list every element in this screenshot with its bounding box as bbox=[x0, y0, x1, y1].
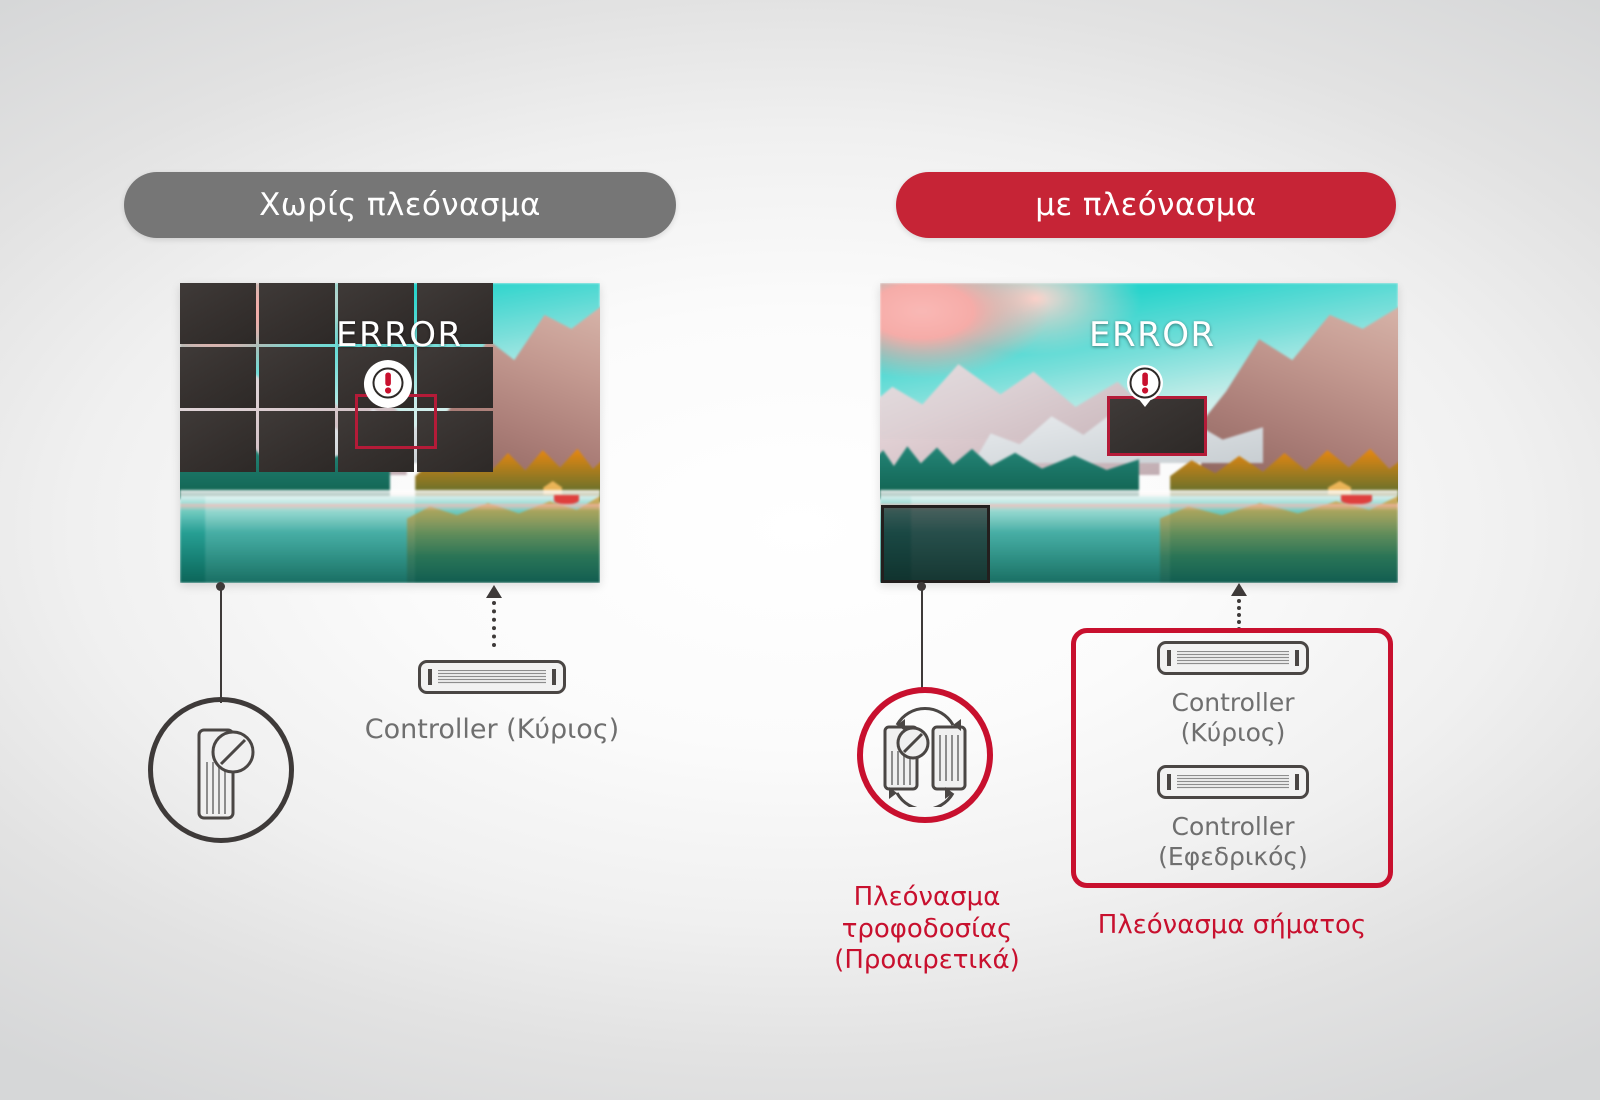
arrow-head bbox=[486, 585, 502, 598]
controller-vent bbox=[438, 670, 546, 685]
controller-cap-right bbox=[552, 669, 556, 686]
header-pill-without-redundancy: Χωρίς πλεόνασμα bbox=[124, 172, 676, 238]
controller-module-icon-primary bbox=[1157, 641, 1309, 675]
controller-cap-right bbox=[1295, 650, 1299, 667]
failed-tile-grid bbox=[180, 283, 493, 472]
controller-module-icon-backup bbox=[1157, 765, 1309, 799]
exclamation-pin-icon bbox=[1115, 358, 1175, 418]
controller-vent bbox=[1177, 775, 1289, 790]
psu-redundant-glyph bbox=[873, 703, 977, 807]
arrow-head bbox=[1231, 583, 1247, 596]
photo-boat bbox=[1341, 495, 1372, 505]
controller-caption-backup: Controller (Εφεδρικός) bbox=[1103, 812, 1363, 871]
header-pill-right-label: με πλεόνασμα bbox=[1035, 187, 1256, 223]
power-redundancy-caption: Πλεόνασμα τροφοδοσίας (Προαιρετικά) bbox=[788, 882, 1066, 977]
error-label-left: ERROR bbox=[336, 315, 463, 355]
controller-module-icon-left bbox=[418, 660, 566, 694]
photo-water-stripe bbox=[180, 504, 600, 510]
failed-tile bbox=[259, 347, 335, 408]
dimmed-tile bbox=[881, 505, 990, 583]
exclamation-pin-icon bbox=[358, 358, 418, 418]
power-supply-single-icon bbox=[148, 697, 294, 843]
psu-unit-glyph bbox=[175, 718, 267, 822]
failed-tile bbox=[180, 411, 256, 472]
controller-caption-left: Controller (Κύριος) bbox=[320, 714, 664, 746]
signal-redundancy-caption: Πλεόνασμα σήματος bbox=[1076, 910, 1388, 942]
power-supply-redundant-icon bbox=[857, 687, 993, 823]
failed-tile bbox=[259, 283, 335, 344]
diagram-canvas: Χωρίς πλεόνασμα με πλεόνασμα bbox=[0, 0, 1600, 1100]
failed-tile bbox=[180, 347, 256, 408]
controller-caption-primary: Controller (Κύριος) bbox=[1103, 688, 1363, 747]
controller-cap-left bbox=[1167, 774, 1171, 791]
arrow-dots bbox=[492, 601, 496, 647]
connector-line-psu-right bbox=[921, 585, 923, 690]
arrow-dots bbox=[1237, 599, 1241, 631]
failed-tile bbox=[259, 411, 335, 472]
header-pill-left-label: Χωρίς πλεόνασμα bbox=[259, 187, 541, 223]
photo-boat bbox=[554, 495, 579, 505]
controller-cap-right bbox=[1295, 774, 1299, 791]
connector-line-psu-left bbox=[220, 585, 222, 703]
controller-cap-left bbox=[1167, 650, 1171, 667]
failed-tile bbox=[180, 283, 256, 344]
controller-vent bbox=[1177, 651, 1289, 666]
header-pill-with-redundancy: με πλεόνασμα bbox=[896, 172, 1396, 238]
error-label-right: ERROR bbox=[1089, 315, 1216, 355]
controller-cap-left bbox=[428, 669, 432, 686]
